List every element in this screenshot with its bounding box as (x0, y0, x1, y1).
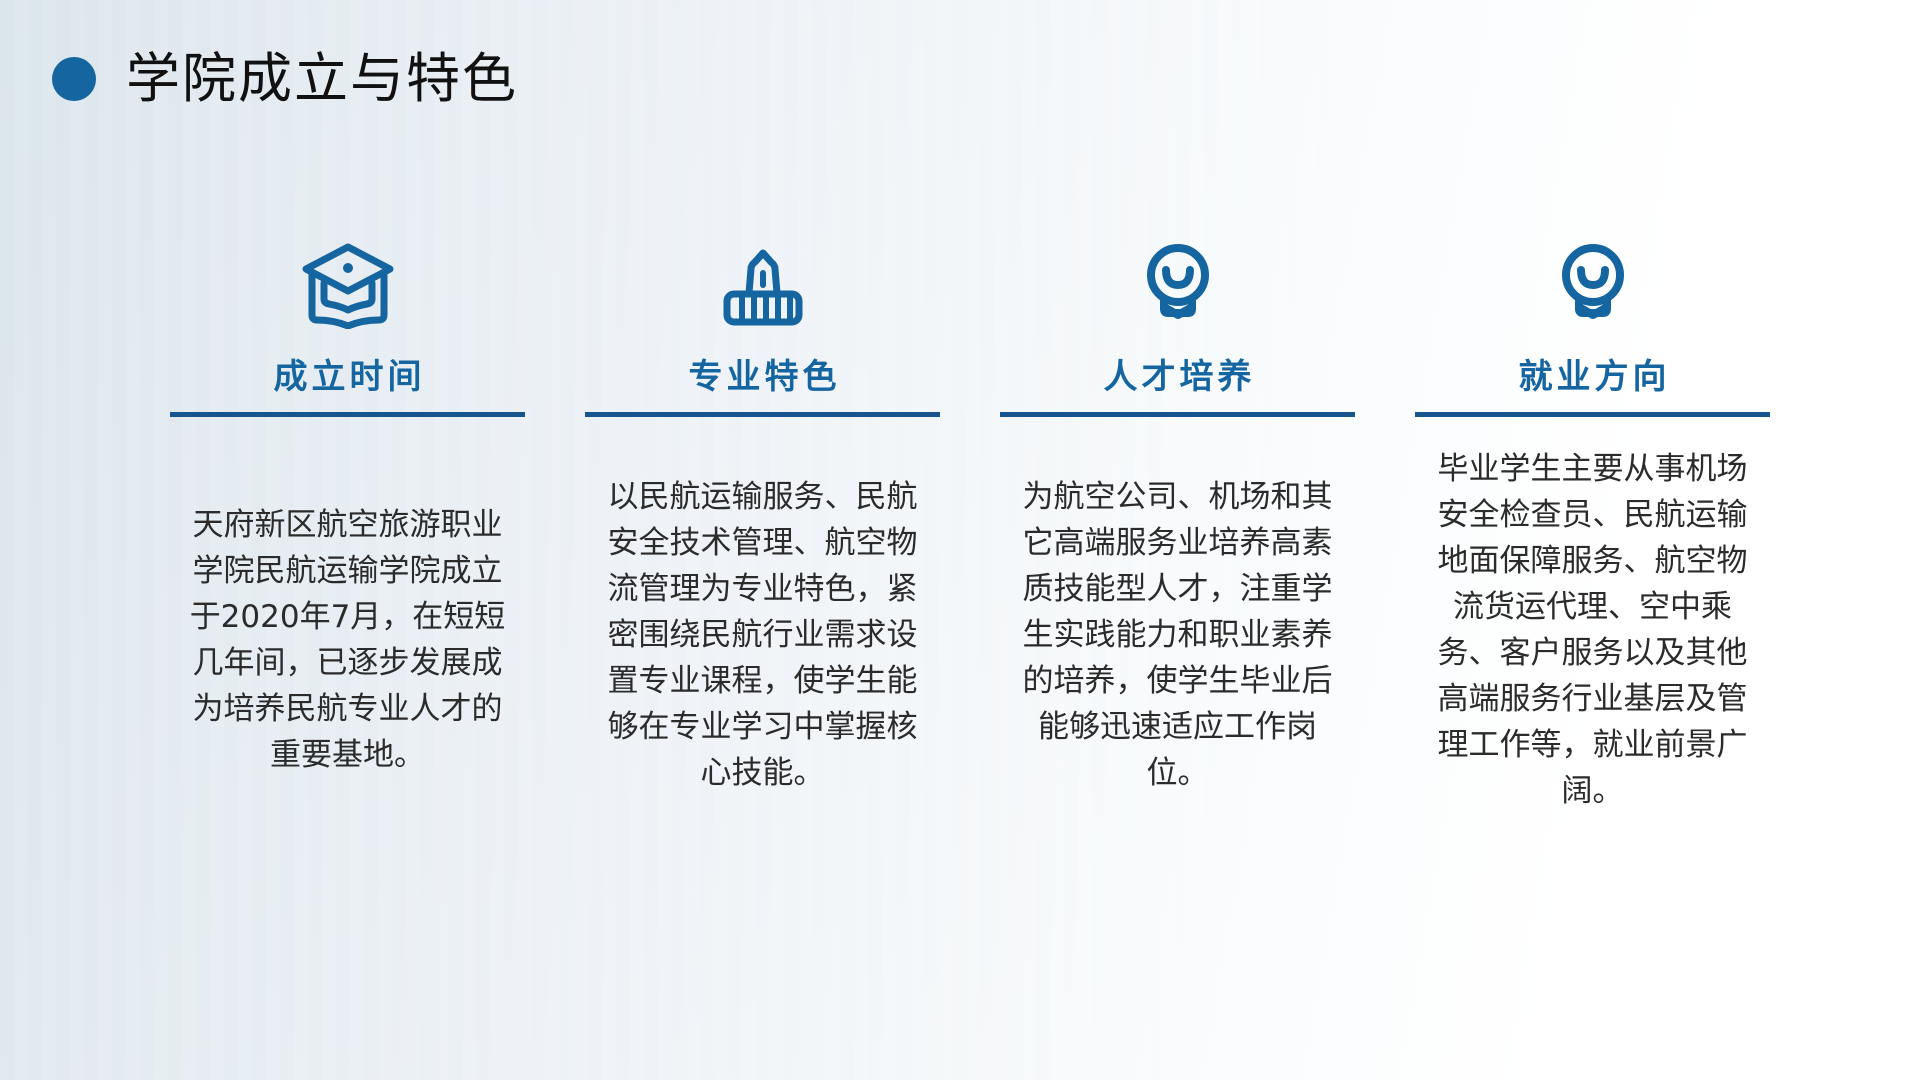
page-title: 学院成立与特色 (52, 52, 518, 106)
graduation-cap-book-icon (300, 225, 396, 329)
feature-rule-4 (1415, 412, 1770, 417)
feature-rule-3 (1000, 412, 1355, 417)
feature-rule-1 (170, 412, 525, 417)
feature-column-1: 成立时间 天府新区航空旅游职业学院民航运输学院成立于2020年7月，在短短几年间… (140, 225, 555, 814)
feature-column-3: 人才培养 为航空公司、机场和其它高端服务业培养高素质技能型人才，注重学生实践能力… (970, 225, 1385, 814)
feature-heading-2: 专业特色 (685, 359, 841, 396)
feature-body-2: 以民航运输服务、民航安全技术管理、航空物流管理为专业特色，紧密围绕民航行业需求设… (598, 475, 928, 796)
feature-column-2: 专业特色 以民航运输服务、民航安全技术管理、航空物流管理为专业特色，紧密围绕民航… (555, 225, 970, 814)
feature-heading-4: 就业方向 (1515, 359, 1671, 396)
feature-rule-2 (585, 412, 940, 417)
feature-body-3: 为航空公司、机场和其它高端服务业培养高素质技能型人才，注重学生实践能力和职业素养… (1013, 475, 1343, 796)
lightbulb-smile-icon (1130, 225, 1226, 329)
slide-root: 学院成立与特色 成立时间 天府新区航空旅游职业学院民航运输学院成立于2020年7… (0, 0, 1920, 1080)
feature-column-4: 就业方向 毕业学生主要从事机场安全检查员、民航运输地面保障服务、航空物流货运代理… (1385, 225, 1800, 814)
lightbulb-smile-icon (1545, 225, 1641, 329)
feature-heading-3: 人才培养 (1100, 359, 1256, 396)
feature-heading-1: 成立时间 (270, 359, 426, 396)
feature-body-1: 天府新区航空旅游职业学院民航运输学院成立于2020年7月，在短短几年间，已逐步发… (183, 503, 513, 778)
page-title-text: 学院成立与特色 (126, 52, 518, 106)
government-building-icon (715, 225, 811, 329)
bullet-circle-icon (52, 57, 96, 101)
feature-columns: 成立时间 天府新区航空旅游职业学院民航运输学院成立于2020年7月，在短短几年间… (140, 225, 1800, 814)
feature-body-4: 毕业学生主要从事机场安全检查员、民航运输地面保障服务、航空物流货运代理、空中乘务… (1428, 447, 1758, 814)
